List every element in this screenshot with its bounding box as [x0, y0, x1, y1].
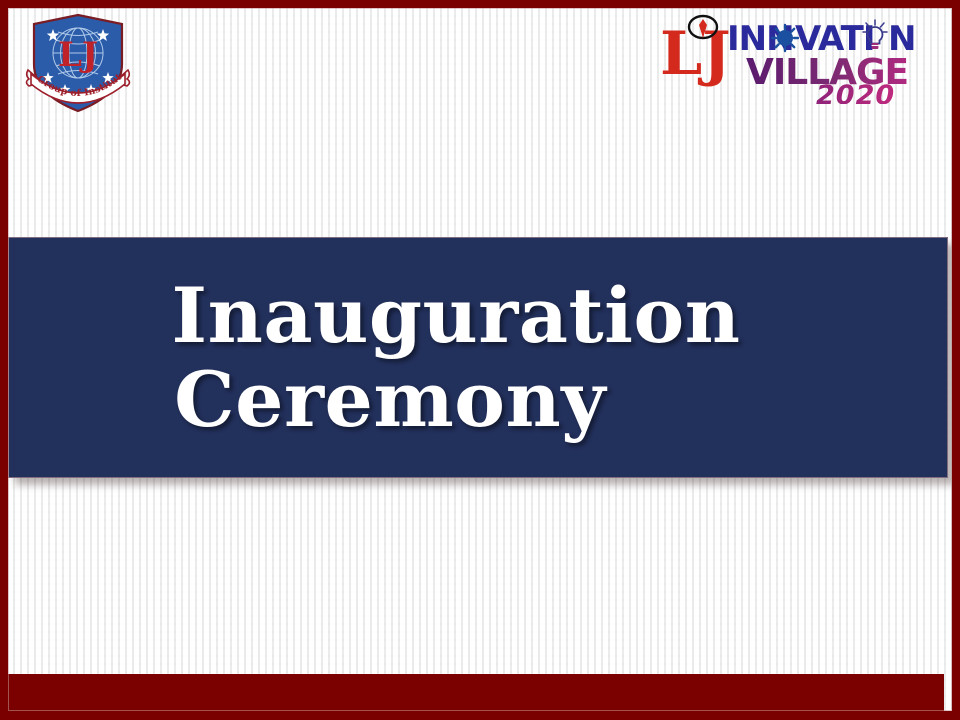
svg-text:LJ: LJ	[58, 35, 98, 75]
svg-text:LJ: LJ	[660, 19, 731, 89]
slide-canvas: LJ	[8, 8, 952, 711]
lj-group-shield-logo: LJ	[22, 12, 134, 116]
page-title-line-2: Ceremony	[174, 361, 606, 439]
lj-monogram: LJ	[58, 35, 98, 75]
year-label: 2020	[816, 80, 895, 104]
innovation-village-2020-logo: LJ INN VATI N	[658, 12, 944, 104]
page-title-line-1: Inauguration	[172, 277, 741, 355]
sun-gear-icon	[772, 25, 798, 51]
title-banner: Inauguration Ceremony	[8, 237, 948, 478]
footer-bar	[8, 674, 944, 711]
presentation-slide: LJ	[0, 0, 960, 720]
lj-monogram-icon: LJ	[660, 16, 731, 89]
